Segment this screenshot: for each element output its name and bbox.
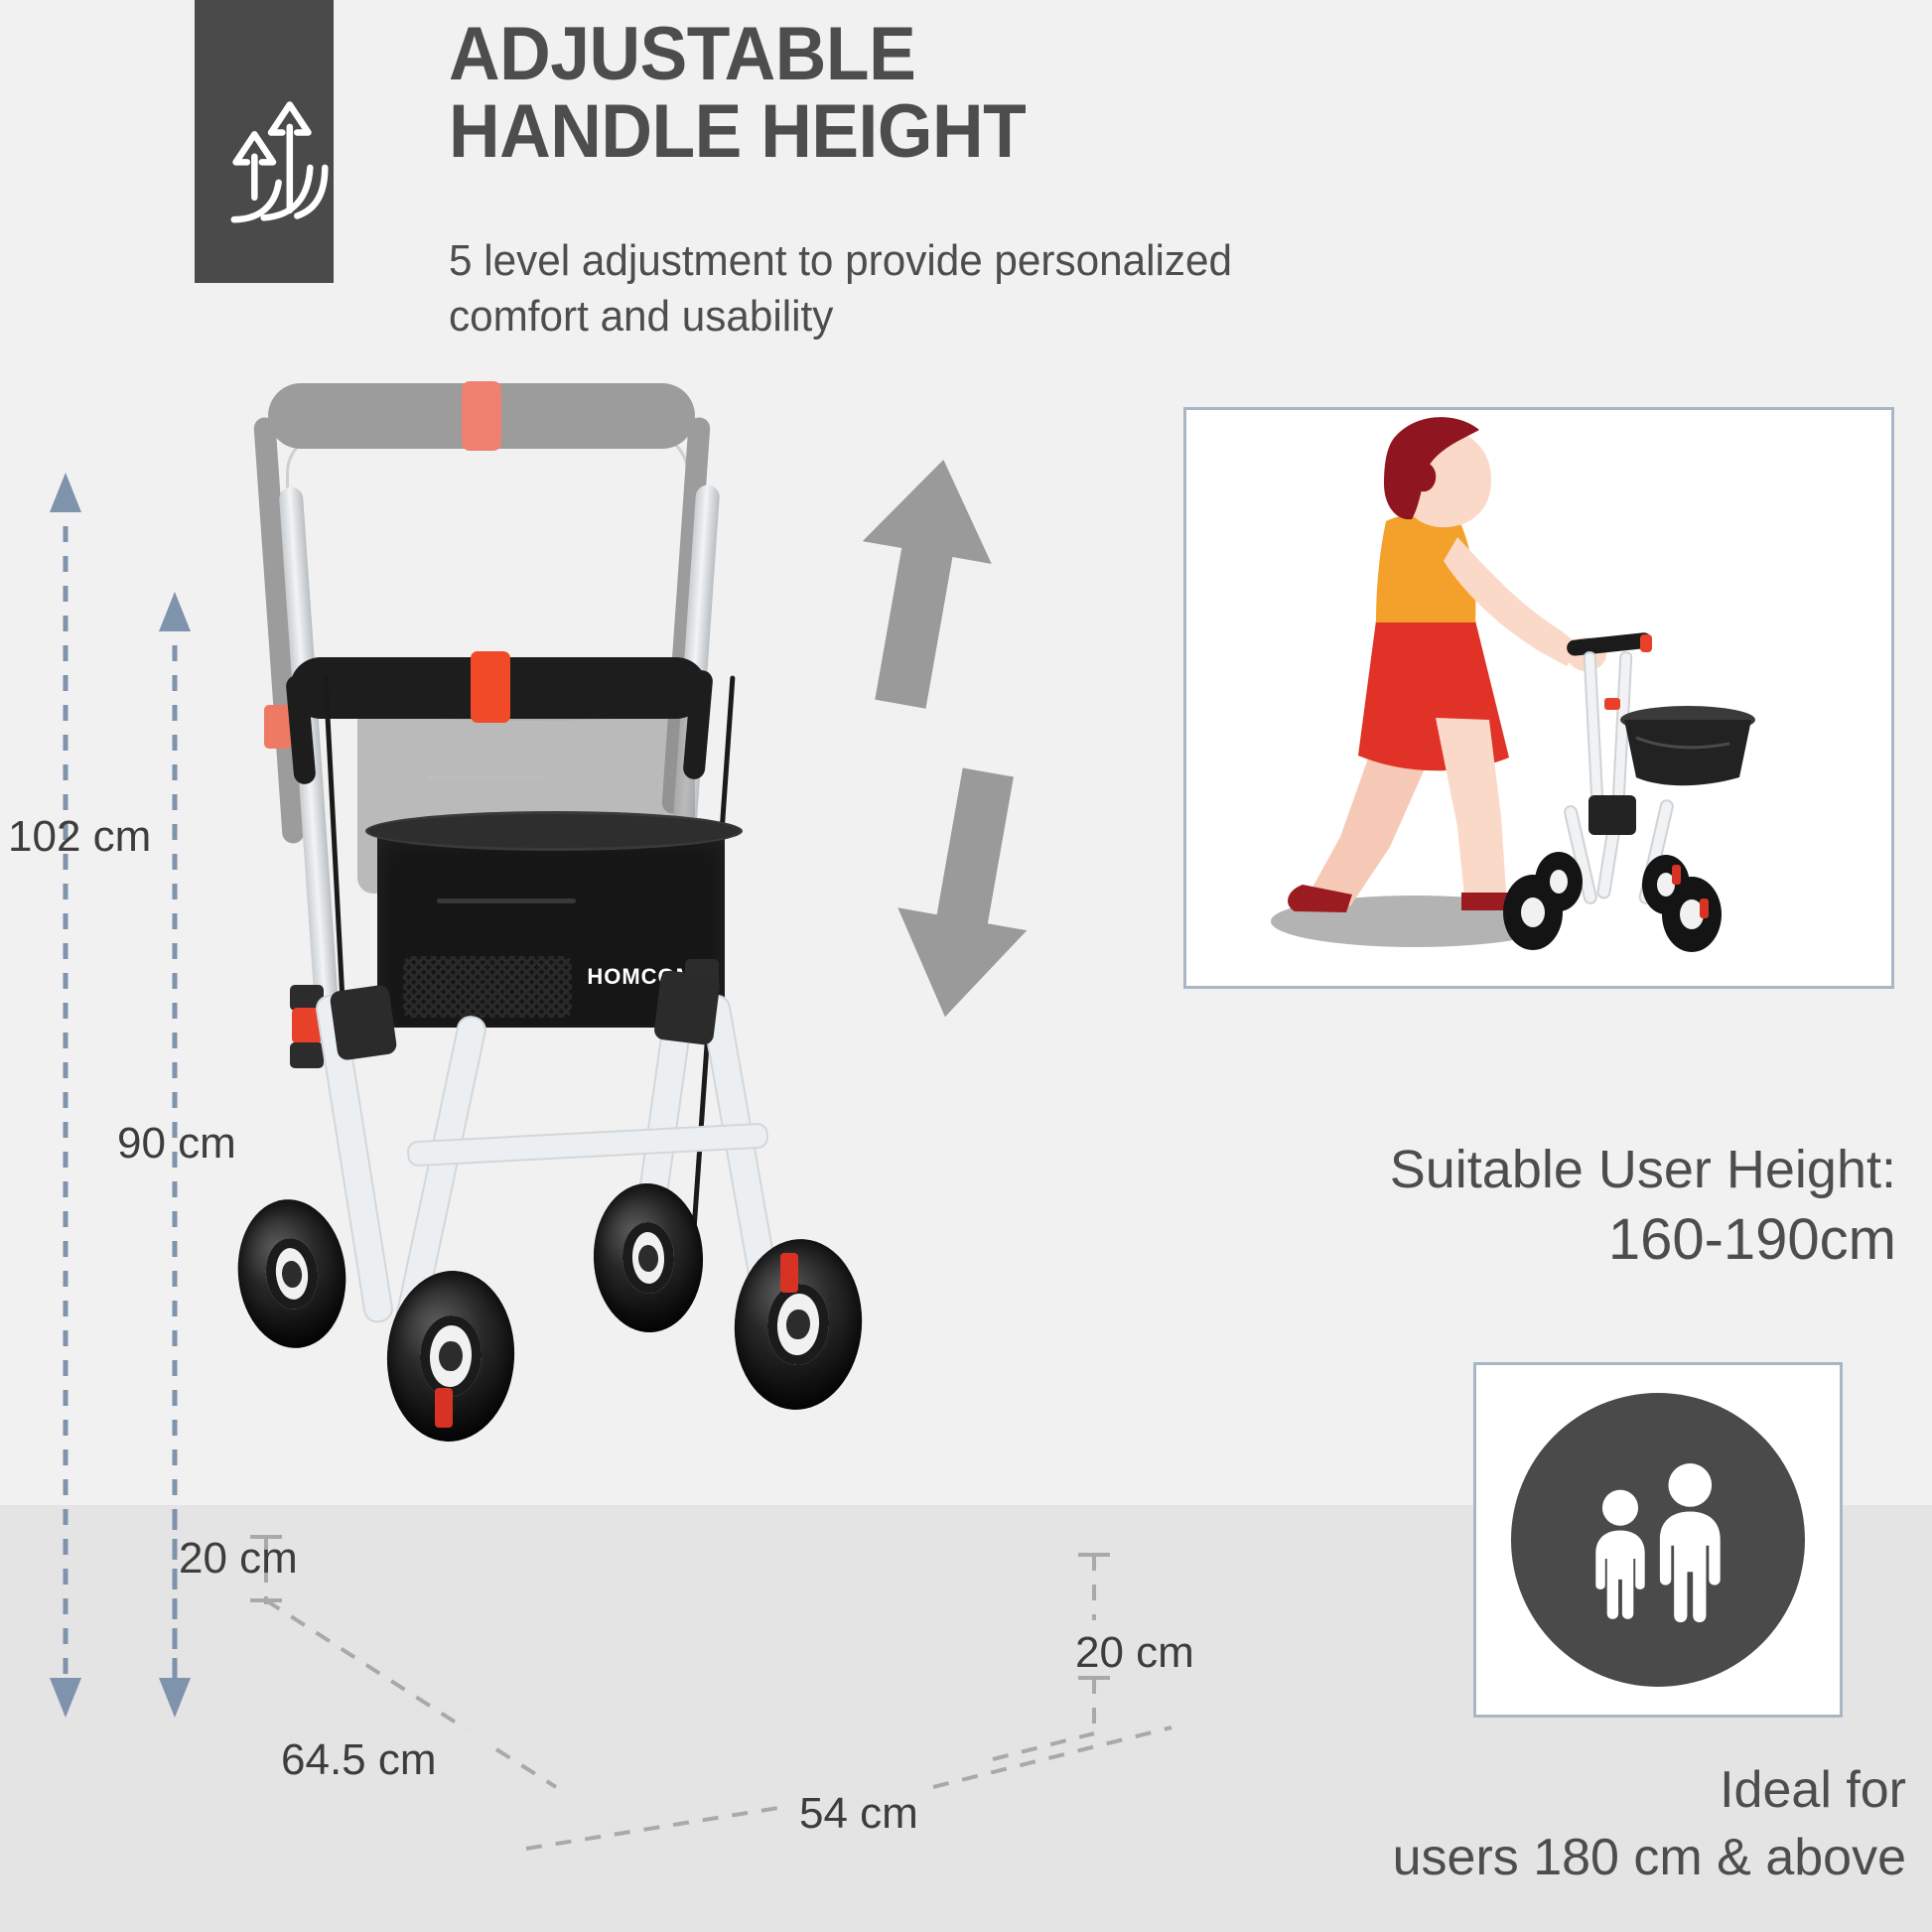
wheel-reflector-left — [435, 1388, 453, 1428]
page-title: ADJUSTABLE HANDLE HEIGHT — [449, 16, 1475, 172]
ghost-handlebar — [268, 383, 695, 449]
page-subtitle: 5 level adjustment to provide personaliz… — [449, 233, 1574, 345]
product-image: HOMCOM HOMCOM — [228, 377, 943, 1539]
dimension-wheel-right: 20 cm — [1075, 1628, 1194, 1678]
growth-arrows-up-icon — [217, 78, 329, 227]
ideal-for-line2: users 180 cm & above — [1092, 1825, 1906, 1892]
dimension-height-min: 90 cm — [117, 1119, 236, 1169]
ideal-for-caption: Ideal for users 180 cm & above — [1092, 1757, 1906, 1891]
ideal-for-line1: Ideal for — [1092, 1757, 1906, 1825]
wheel-rear-left — [230, 1194, 352, 1353]
user-height-label: Suitable User Height: — [1142, 1137, 1896, 1204]
handlebar — [290, 657, 707, 719]
folding-hinge-left — [329, 984, 397, 1061]
bag-mesh-pocket — [403, 956, 572, 1018]
dimension-width: 54 cm — [799, 1789, 918, 1839]
woman-walking-with-rollator-illustration — [1186, 410, 1891, 986]
user-height-value: 160-190cm — [1142, 1204, 1896, 1277]
dimension-depth: 64.5 cm — [281, 1735, 437, 1785]
user-height-caption: Suitable User Height: 160-190cm — [1142, 1137, 1896, 1276]
user-illustration-panel — [1183, 407, 1894, 989]
ideal-for-panel — [1473, 1362, 1843, 1718]
two-people-height-icon — [1564, 1446, 1752, 1634]
bag-zip — [437, 898, 576, 903]
height-clip-left-bottom — [290, 1042, 324, 1068]
wheel-rear-right — [591, 1181, 705, 1334]
bag-rim — [365, 811, 743, 851]
dimension-wheel-left: 20 cm — [179, 1534, 298, 1584]
ghost-bag-zip — [427, 776, 546, 780]
dimension-height-max: 102 cm — [8, 812, 151, 862]
folding-hinge-right — [653, 970, 721, 1046]
infographic-root: ADJUSTABLE HANDLE HEIGHT 5 level adjustm… — [0, 0, 1932, 1932]
header-icon-box — [195, 0, 334, 283]
icon-circle — [1511, 1393, 1805, 1687]
wheel-reflector-right — [780, 1253, 798, 1293]
